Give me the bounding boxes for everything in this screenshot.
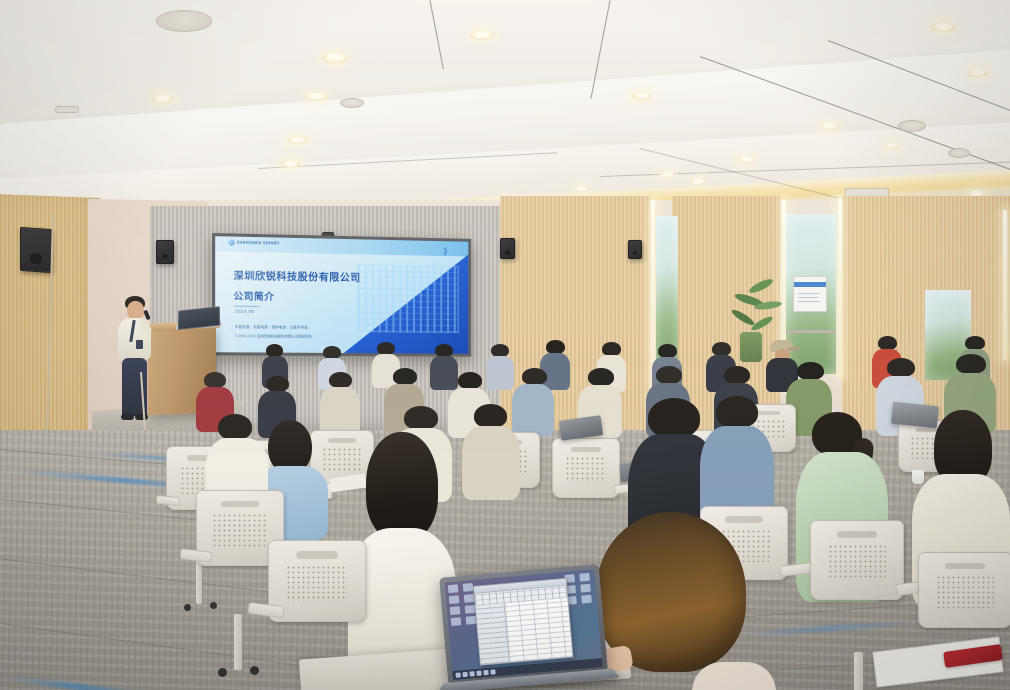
ceiling-speaker-icon [948, 148, 970, 158]
downlight-icon [305, 92, 327, 101]
downlight-icon [967, 68, 988, 77]
conference-room-photo: SHENZHEN SHINRY 》 深圳欣锐科技股份有限公司 公司简介 2024… [0, 0, 1010, 690]
downlight-icon [281, 160, 300, 168]
hair [366, 432, 438, 540]
projection-screen: SHENZHEN SHINRY 》 深圳欣锐科技股份有限公司 公司简介 2024… [212, 233, 471, 357]
laptop-lid: hp [439, 564, 608, 686]
shirt [462, 426, 520, 500]
downlight-icon [470, 30, 494, 40]
speaker-icon [628, 240, 642, 259]
audience-member [486, 344, 514, 390]
spreadsheet-window[interactable] [473, 578, 574, 666]
downlight-icon [738, 156, 755, 163]
ceiling-speaker-icon [340, 98, 364, 108]
audience-member [462, 404, 520, 500]
downlight-icon [575, 186, 589, 192]
screen-glare [215, 236, 468, 354]
foreground-laptop[interactable]: hp [439, 563, 625, 690]
presenter [112, 296, 156, 420]
wall-led-strip [838, 198, 842, 378]
downlight-icon [820, 122, 839, 130]
downlight-icon [660, 172, 675, 178]
wall-poster [793, 276, 827, 312]
spreadsheet-grid[interactable] [504, 598, 572, 662]
downlight-icon [288, 136, 308, 144]
badge [136, 340, 143, 349]
window-mullion [786, 330, 836, 333]
desktop-icons-right[interactable] [564, 573, 594, 605]
downlight-icon [884, 142, 900, 149]
speaker-icon [500, 238, 515, 259]
poster-header-band [794, 282, 826, 287]
cap-brim [788, 347, 801, 351]
downlight-icon [632, 92, 651, 100]
wall-led-strip [1003, 210, 1007, 360]
downlight-icon [322, 52, 348, 63]
laptop-screen[interactable] [445, 569, 603, 680]
speaker-icon [156, 240, 174, 264]
ceiling-speaker-icon [898, 120, 926, 132]
downlight-icon [152, 94, 173, 103]
ceiling-vent [55, 106, 79, 113]
downlight-icon [931, 22, 955, 32]
downlight-icon [690, 178, 706, 185]
presentation-slide: SHENZHEN SHINRY 》 深圳欣锐科技股份有限公司 公司简介 2024… [215, 236, 468, 354]
ceiling-speaker-icon [156, 10, 212, 32]
speaker-icon [20, 227, 52, 273]
shoulder [692, 662, 776, 690]
